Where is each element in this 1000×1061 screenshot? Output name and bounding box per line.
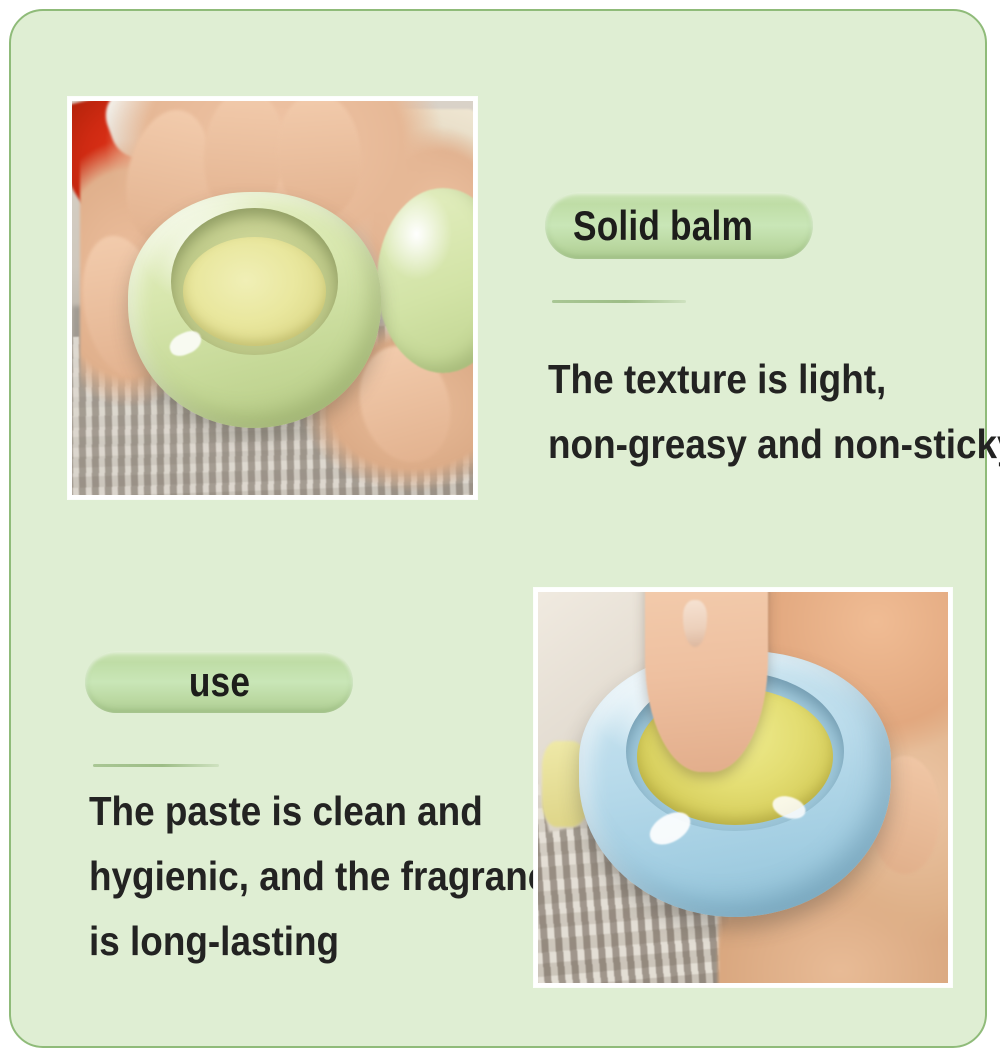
photo-top-green-jar xyxy=(128,192,381,428)
product-infographic: Solid balm The texture is light, non-gre… xyxy=(0,0,1000,1061)
infographic-panel: Solid balm The texture is light, non-gre… xyxy=(9,9,987,1048)
photo-top-canvas xyxy=(72,101,473,495)
photo-top-jar-highlight xyxy=(166,328,204,360)
product-photo-finger-in-blue-jar xyxy=(534,588,952,987)
photo-bottom-canvas xyxy=(538,592,948,983)
divider-use xyxy=(93,764,219,767)
badge-use: use xyxy=(85,651,353,713)
copy-solid-balm-line-2: non-greasy and non-sticky xyxy=(548,412,1000,477)
copy-use-line-1: The paste is clean and xyxy=(89,779,569,844)
badge-solid-balm-label: Solid balm xyxy=(573,205,753,247)
badge-use-label: use xyxy=(188,661,249,703)
copy-use-line-2: hygienic, and the fragrance xyxy=(89,844,569,909)
copy-solid-balm: The texture is light, non-greasy and non… xyxy=(548,347,1000,477)
photo-top-balm xyxy=(183,237,326,345)
copy-solid-balm-line-1: The texture is light, xyxy=(548,347,1000,412)
photo-bottom-fingernail xyxy=(683,600,708,648)
copy-use-line-3: is long-lasting xyxy=(89,909,569,974)
divider-solid-balm xyxy=(552,300,686,303)
product-photo-open-green-jar xyxy=(68,97,477,499)
badge-solid-balm: Solid balm xyxy=(545,192,813,259)
